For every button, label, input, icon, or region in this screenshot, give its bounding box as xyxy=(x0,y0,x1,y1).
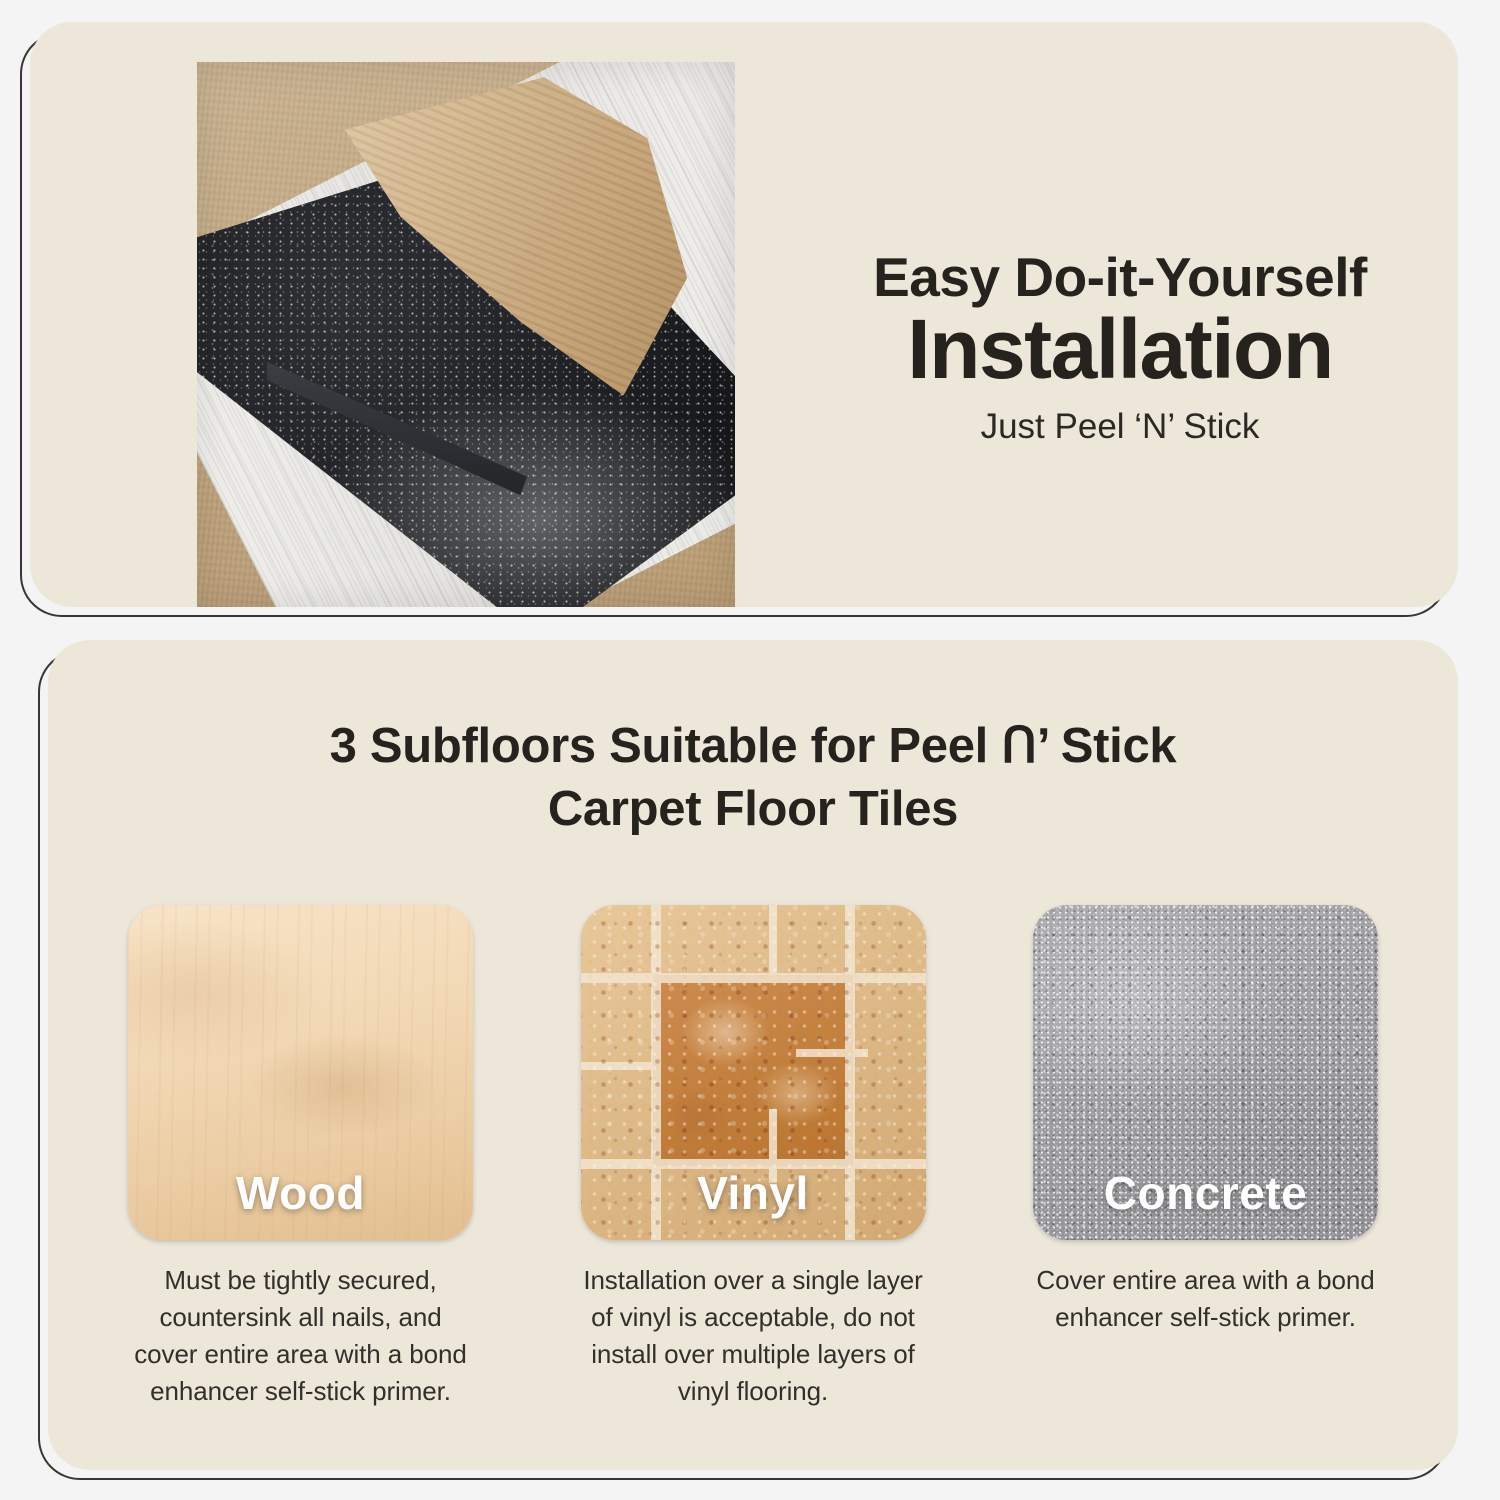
subfloor-item-vinyl: Vinyl Installation over a single layer o… xyxy=(581,905,926,1410)
headline-subtitle: Just Peel ‘N’ Stick xyxy=(775,407,1465,447)
product-photo xyxy=(197,62,735,607)
wood-caption: Must be tightly secured, countersink all… xyxy=(128,1262,473,1410)
wood-swatch: Wood xyxy=(128,905,473,1240)
wood-swatch-label: Wood xyxy=(128,1166,473,1220)
subfloor-list: Wood Must be tightly secured, countersin… xyxy=(48,905,1458,1410)
concrete-swatch-label: Concrete xyxy=(1033,1166,1378,1220)
vinyl-caption: Installation over a single layer of viny… xyxy=(581,1262,926,1410)
concrete-caption: Cover entire area with a bond enhancer s… xyxy=(1033,1262,1378,1336)
subfloor-item-wood: Wood Must be tightly secured, countersin… xyxy=(128,905,473,1410)
subfloors-heading: 3 Subfloors Suitable for Peel Ո’ Stick C… xyxy=(48,715,1458,840)
subfloors-heading-line-2: Carpet Floor Tiles xyxy=(48,778,1458,841)
vinyl-swatch: Vinyl xyxy=(581,905,926,1240)
headline-block: Easy Do-it-Yourself Installation Just Pe… xyxy=(775,250,1465,447)
vinyl-swatch-label: Vinyl xyxy=(581,1166,926,1220)
headline-line-2: Installation xyxy=(775,307,1465,393)
subfloors-heading-line-1: 3 Subfloors Suitable for Peel Ո’ Stick xyxy=(48,715,1458,778)
concrete-swatch: Concrete xyxy=(1033,905,1378,1240)
subfloor-item-concrete: Concrete Cover entire area with a bond e… xyxy=(1033,905,1378,1410)
installation-card: Easy Do-it-Yourself Installation Just Pe… xyxy=(30,22,1458,607)
headline-line-1: Easy Do-it-Yourself xyxy=(775,250,1465,305)
